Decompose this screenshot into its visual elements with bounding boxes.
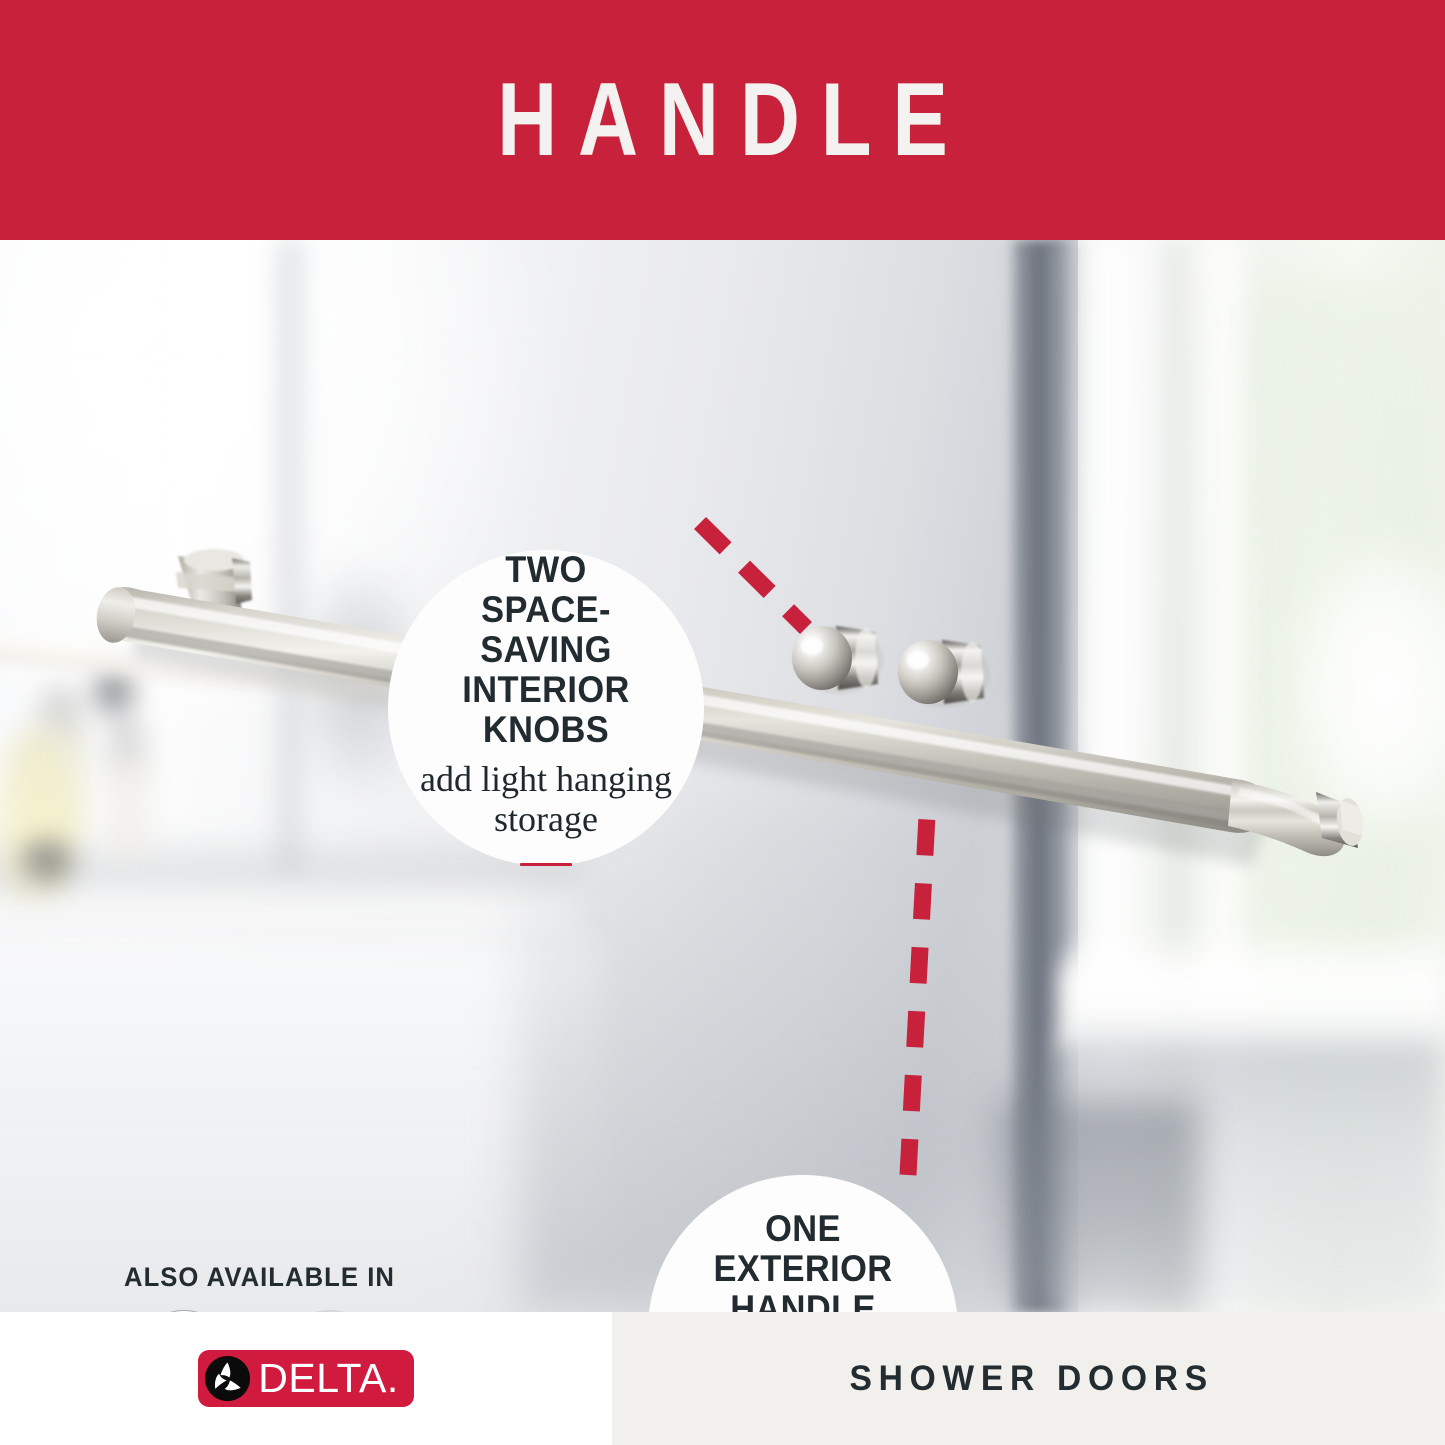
delta-brand-text: DELTA <box>258 1355 387 1401</box>
callout-accent-rule <box>520 863 572 866</box>
callout-subtext: add light hanging storage <box>420 759 672 840</box>
callout-headline: ONE EXTERIOR HANDLE <box>677 1209 928 1312</box>
callout-headline-line: TWO <box>420 550 673 590</box>
finish-options: ALSO AVAILABLE IN CHROME BRONZE <box>117 1262 397 1312</box>
callout-interior-knobs: TWO SPACE-SAVING INTERIOR KNOBS add ligh… <box>388 550 704 866</box>
delta-period: . <box>387 1355 399 1401</box>
callout-subtext-line: add light hanging <box>420 759 672 799</box>
delta-logo[interactable]: DELTA. <box>198 1350 413 1407</box>
leader-line-knobs <box>700 523 806 628</box>
callout-headline-line: ONE EXTERIOR <box>677 1209 928 1289</box>
footer-brand-area: DELTA. <box>0 1312 612 1445</box>
page-title: HANDLE <box>145 0 1301 240</box>
finish-options-title: ALSO AVAILABLE IN <box>124 1262 390 1293</box>
delta-triangle-logo-icon <box>204 1355 251 1402</box>
callout-headline-line: HANDLE <box>677 1289 928 1312</box>
callout-headline-line: INTERIOR KNOBS <box>420 670 673 750</box>
footer-category-area: SHOWER DOORS <box>612 1312 1445 1445</box>
header-band: HANDLE <box>0 0 1445 240</box>
leader-lines <box>0 240 1445 1312</box>
leader-line-handle <box>870 806 966 1175</box>
delta-wordmark: DELTA. <box>258 1358 398 1399</box>
callout-headline-line: SPACE-SAVING <box>420 590 673 670</box>
footer-category-label: SHOWER DOORS <box>843 1359 1214 1399</box>
callout-headline: TWO SPACE-SAVING INTERIOR KNOBS <box>420 550 673 750</box>
product-infographic: HANDLE <box>0 0 1445 1445</box>
product-photo: TWO SPACE-SAVING INTERIOR KNOBS add ligh… <box>0 240 1445 1312</box>
footer: DELTA. SHOWER DOORS <box>0 1312 1445 1445</box>
callout-subtext-line: storage <box>420 799 672 839</box>
